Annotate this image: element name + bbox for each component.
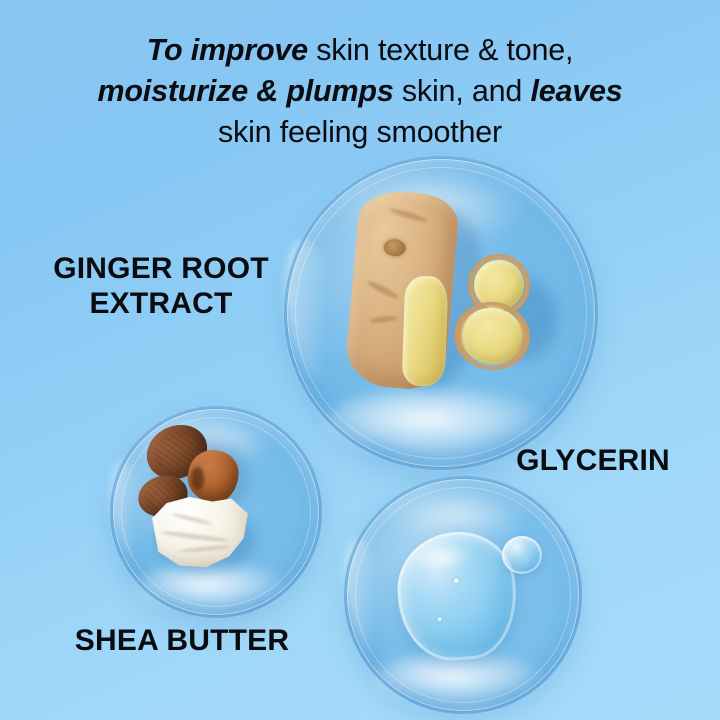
headline-line-3: skin feeling smoother [0, 112, 720, 153]
ginger-root-piece [344, 188, 461, 392]
headline-emphasis-3: leaves [530, 74, 622, 108]
headline-line-2: moisturize & plumps skin, and leaves [0, 71, 720, 112]
headline-emphasis-1: To improve [147, 33, 308, 67]
gel-bubble [453, 578, 458, 583]
petri-dish-glycerin [344, 476, 582, 714]
label-ginger-root-extract: GINGER ROOT EXTRACT [20, 252, 302, 322]
headline-emphasis-2: moisturize & plumps [97, 74, 393, 108]
ingredient-infographic: To improve skin texture & tone, moisturi… [0, 0, 720, 720]
gel-bubble [437, 618, 441, 622]
headline: To improve skin texture & tone, moisturi… [0, 30, 720, 153]
headline-line-1: To improve skin texture & tone, [0, 30, 720, 71]
headline-line-1-rest: skin texture & tone, [308, 33, 573, 67]
gel-highlight [411, 541, 472, 573]
glycerin-droplet [502, 536, 542, 574]
label-shea-butter: SHEA BUTTER [34, 624, 330, 659]
headline-line-2-mid: skin, and [394, 74, 531, 108]
petri-dish-shea [110, 406, 322, 618]
petri-dish-ginger [284, 156, 598, 470]
label-glycerin: GLYCERIN [470, 444, 716, 479]
shea-butter-lump [148, 494, 252, 570]
ginger-slice-skin [450, 297, 535, 375]
ginger-root-cut-face [402, 276, 449, 387]
ginger-slice [450, 297, 535, 375]
